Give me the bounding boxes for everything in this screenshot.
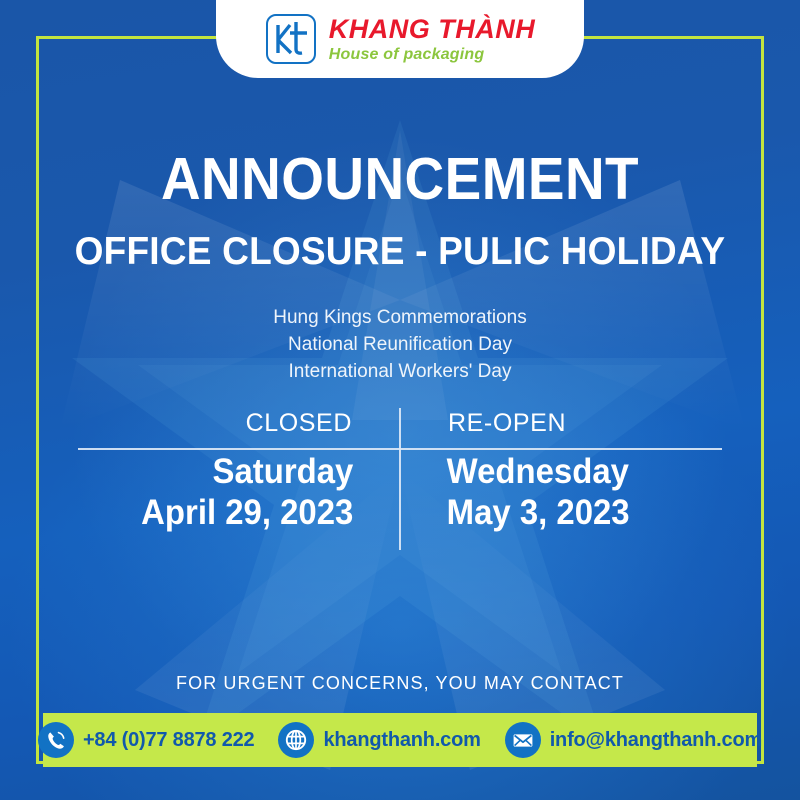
schedule-column-reopen: RE-OPEN Wednesday May 3, 2023 bbox=[426, 408, 722, 533]
closed-day: Saturday bbox=[96, 452, 354, 493]
list-item: International Workers' Day bbox=[0, 359, 800, 386]
schedule-vertical-divider bbox=[399, 408, 401, 550]
announcement-poster: KHANG THÀNH House of packaging ANNOUNCEM… bbox=[0, 0, 800, 800]
globe-icon bbox=[278, 722, 314, 758]
contact-website[interactable]: khangthanh.com bbox=[278, 722, 480, 758]
list-item: National Reunification Day bbox=[0, 332, 800, 359]
email-address: info@khangthanh.com bbox=[550, 729, 762, 752]
kt-monogram-icon bbox=[265, 13, 317, 65]
schedule-block: CLOSED Saturday April 29, 2023 RE-OPEN W… bbox=[78, 408, 722, 558]
urgent-contact-note: FOR URGENT CONCERNS, YOU MAY CONTACT bbox=[0, 673, 800, 694]
list-item: Hung Kings Commemorations bbox=[0, 305, 800, 332]
reopen-day: Wednesday bbox=[447, 452, 705, 493]
page-subtitle: OFFICE CLOSURE - PULIC HOLIDAY bbox=[20, 232, 780, 271]
phone-number: +84 (0)77 8878 222 bbox=[83, 729, 255, 752]
brand-name: KHANG THÀNH bbox=[329, 16, 535, 43]
closed-date: Saturday April 29, 2023 bbox=[96, 452, 374, 533]
holiday-list: Hung Kings Commemorations National Reuni… bbox=[0, 305, 800, 386]
reopen-date: Wednesday May 3, 2023 bbox=[426, 452, 704, 533]
reopen-date-text: May 3, 2023 bbox=[447, 493, 705, 534]
closed-label: CLOSED bbox=[78, 408, 374, 439]
contact-bar: +84 (0)77 8878 222 khangthanh.com info@k… bbox=[43, 713, 757, 767]
page-title: ANNOUNCEMENT bbox=[28, 150, 772, 209]
brand-logo-badge: KHANG THÀNH House of packaging bbox=[216, 0, 584, 78]
schedule-column-closed: CLOSED Saturday April 29, 2023 bbox=[78, 408, 374, 533]
contact-email[interactable]: info@khangthanh.com bbox=[505, 722, 762, 758]
phone-icon bbox=[38, 722, 74, 758]
brand-tagline: House of packaging bbox=[329, 47, 535, 63]
closed-date-text: April 29, 2023 bbox=[96, 493, 354, 534]
reopen-label: RE-OPEN bbox=[426, 408, 722, 439]
envelope-icon bbox=[505, 722, 541, 758]
contact-phone[interactable]: +84 (0)77 8878 222 bbox=[38, 722, 255, 758]
website-url: khangthanh.com bbox=[323, 729, 480, 752]
